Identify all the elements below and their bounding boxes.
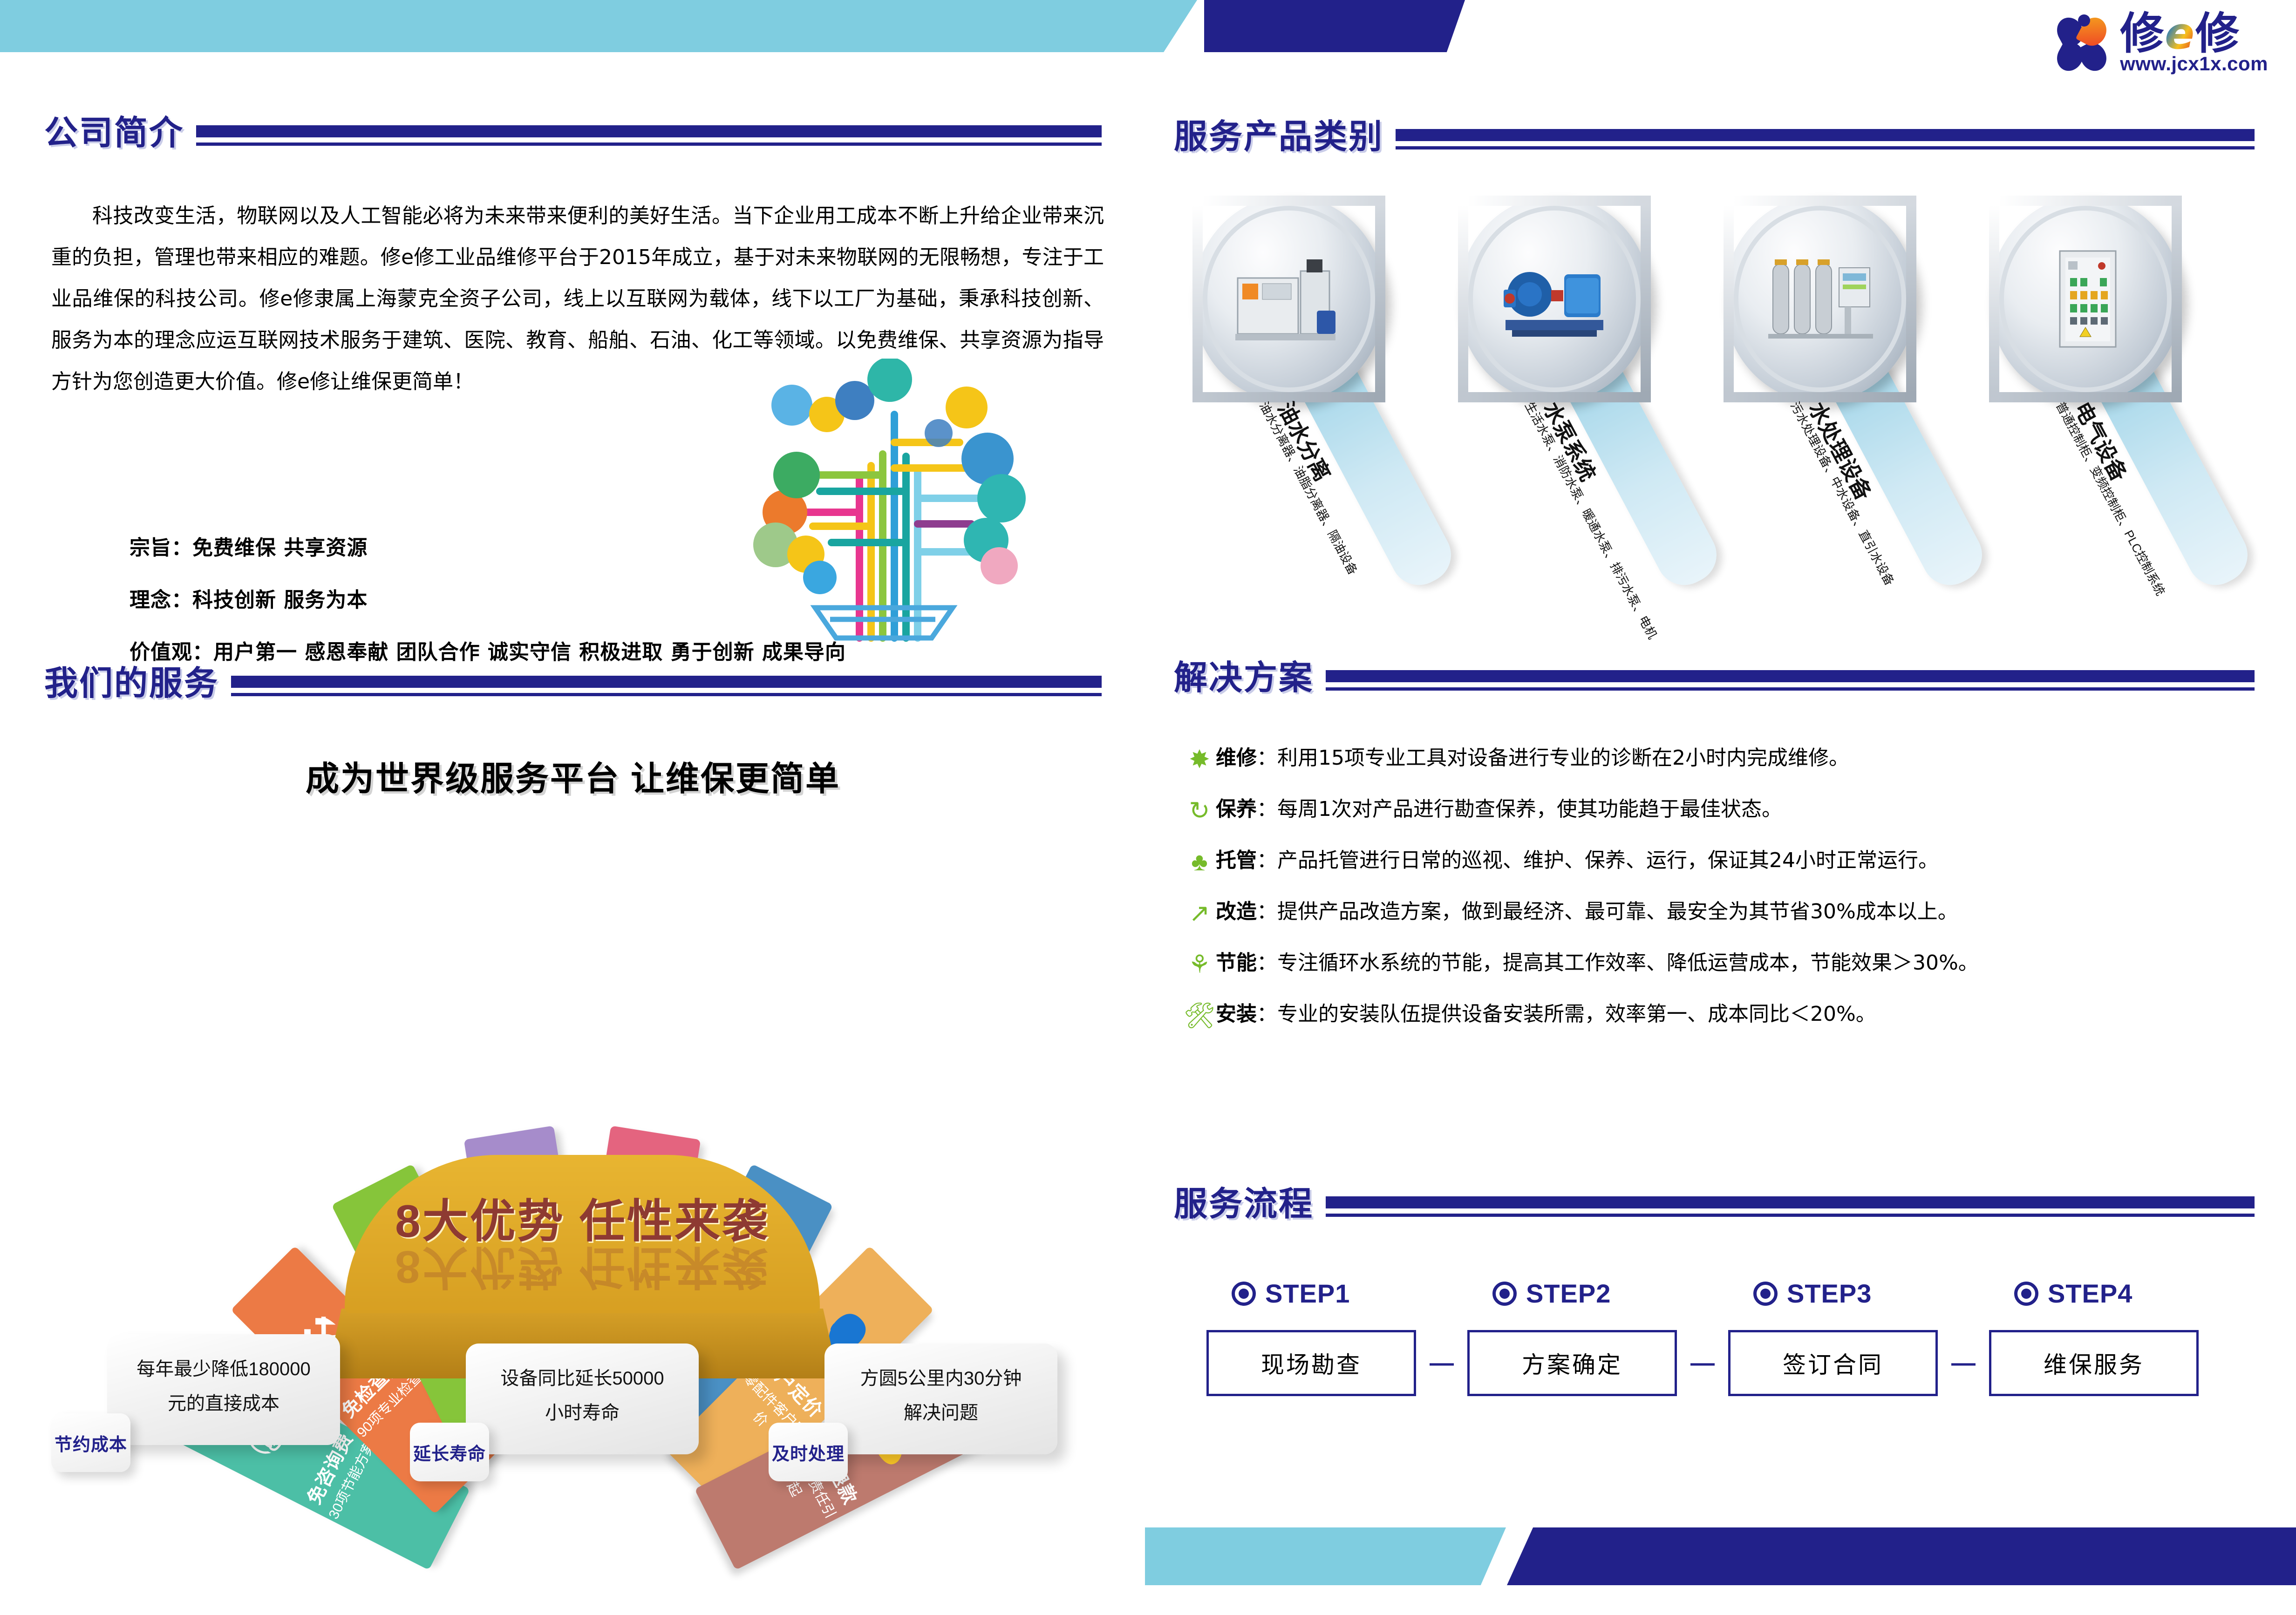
step-dot-icon	[1753, 1282, 1778, 1306]
process-step-marker: STEP2	[1492, 1278, 1702, 1309]
solution-item[interactable]: ↗ 改造：提供产品改造方案，做到最经济、最可靠、最安全为其节省30%成本以上。	[1183, 899, 2292, 926]
heading-rules	[1326, 1196, 2255, 1217]
logo-url: www.jcx1x.com	[2120, 53, 2268, 75]
step-dot-icon	[1232, 1282, 1256, 1306]
wrench-icon: 🛠	[1183, 1003, 1216, 1028]
logo-char-e: e	[2165, 13, 2195, 54]
solution-item[interactable]: ✸ 维修：利用15项专业工具对设备进行专业的诊断在2小时内完成维修。	[1183, 745, 2292, 772]
top-banner-blue	[1204, 0, 1465, 52]
solution-text: 改造：提供产品改造方案，做到最经济、最可靠、最安全为其节省30%成本以上。	[1216, 899, 1958, 925]
solution-title: 安装	[1216, 1002, 1257, 1026]
solution-text: 保养：每周1次对产品进行勘查保养，使其功能趋于最佳状态。	[1216, 796, 1782, 822]
building-icon: ♣	[1183, 849, 1216, 875]
technology-tree-illustration	[720, 359, 1046, 657]
solution-item[interactable]: ⚘ 节能：专注循环水系统的节能，提高其工作效率、降低运营成本，节能效果＞30%。	[1183, 950, 2292, 977]
solution-desc: 提供产品改造方案，做到最经济、最可靠、最安全为其节省30%成本以上。	[1277, 900, 1958, 923]
services-tagline: 成为世界级服务平台 让维保更简单	[44, 751, 1102, 800]
section-title-services: 我们的服务	[44, 667, 219, 700]
section-title-company: 公司简介	[44, 116, 184, 150]
solution-desc: 利用15项专业工具对设备进行专业的诊断在2小时内完成维修。	[1277, 746, 1849, 770]
step-dot-icon	[2014, 1282, 2038, 1306]
callout-tag: 延长寿命	[410, 1423, 489, 1481]
process-step-labels: STEP1 STEP2 STEP3 STEP4	[1232, 1278, 2278, 1309]
step-number: STEP2	[1526, 1278, 1611, 1309]
product-category-card[interactable]: 水泵系统 生活水泵、消防水泵、暖通水泵、排污水泵、电机	[1458, 196, 1630, 402]
water-pump-photo	[1496, 245, 1613, 353]
solutions-list: ✸ 维修：利用15项专业工具对设备进行专业的诊断在2小时内完成维修。 ↻ 保养：…	[1183, 745, 2292, 1052]
section-heading-process: 服务流程	[1174, 1187, 2255, 1221]
process-step-box[interactable]: 现场勘查	[1206, 1330, 1416, 1396]
oil-water-separator-photo	[1231, 245, 1347, 353]
section-heading-services: 我们的服务	[44, 667, 1102, 700]
section-heading-products: 服务产品类别	[1174, 120, 2255, 154]
step-number: STEP4	[2048, 1278, 2132, 1309]
solution-title: 维修	[1216, 746, 1257, 770]
process-separator: —	[1938, 1349, 1989, 1377]
leaf-sprout-icon: ⚘	[1183, 952, 1216, 977]
magnifier-lens	[1192, 196, 1385, 402]
process-separator: —	[1416, 1349, 1467, 1377]
process-step-box[interactable]: 方案确定	[1467, 1330, 1677, 1396]
section-title-process: 服务流程	[1174, 1187, 1314, 1221]
solution-title: 托管	[1216, 848, 1257, 872]
solution-text: 托管：产品托管进行日常的巡视、维护、保养、运行，保证其24小时正常运行。	[1216, 848, 1939, 874]
callout-tag: 节约成本	[51, 1413, 130, 1472]
solution-text: 节能：专注循环水系统的节能，提高其工作效率、降低运营成本，节能效果＞30%。	[1216, 950, 1979, 976]
electrical-cabinet-photo	[2027, 245, 2144, 353]
brand-logo: 修 e 修 www.jcx1x.com	[2054, 13, 2268, 75]
bottom-banner-cyan	[1145, 1527, 1506, 1585]
callout-line: 设备同比延长50000	[480, 1361, 685, 1396]
arrow-up-right-icon: ↗	[1183, 901, 1216, 926]
solution-text: 维修：利用15项专业工具对设备进行专业的诊断在2小时内完成维修。	[1216, 745, 1849, 771]
section-heading-company: 公司简介	[44, 116, 1102, 150]
magnifier-lens	[1458, 196, 1651, 402]
solution-text: 安装：专业的安装队伍提供设备安装所需，效率第一、成本同比＜20%。	[1216, 1001, 1876, 1027]
solution-desc: 专注循环水系统的节能，提高其工作效率、降低运营成本，节能效果＞30%。	[1277, 951, 1979, 975]
callout-line: 方圆5公里内30分钟	[838, 1361, 1043, 1396]
logo-char-left: 修	[2120, 13, 2165, 54]
section-title-products: 服务产品类别	[1174, 120, 1383, 154]
company-motto-philosophy: 理念：科技创新 服务为本	[129, 583, 368, 613]
heading-rules	[231, 676, 1102, 696]
benefit-callouts: 每年最少降低180000 元的直接成本 节约成本 设备同比延长50000 小时寿…	[107, 1334, 1099, 1502]
section-heading-solutions: 解决方案	[1174, 661, 2255, 695]
top-banner-cyan	[0, 0, 1197, 52]
callout-card[interactable]: 设备同比延长50000 小时寿命 延长寿命	[466, 1344, 699, 1454]
water-treatment-photo	[1762, 245, 1878, 353]
solution-item[interactable]: ↻ 保养：每周1次对产品进行勘查保养，使其功能趋于最佳状态。	[1183, 796, 2292, 823]
heading-rules	[196, 125, 1102, 146]
company-motto-purpose: 宗旨：免费维保 共享资源	[129, 531, 368, 561]
process-step-box[interactable]: 维保服务	[1989, 1330, 2199, 1396]
process-step-boxes: 现场勘查 — 方案确定 — 签订合同 — 维保服务	[1206, 1330, 2278, 1396]
solution-title: 节能	[1216, 951, 1257, 975]
callout-tag: 及时处理	[769, 1423, 848, 1481]
callout-line: 解决问题	[838, 1396, 1043, 1430]
process-step-marker: STEP3	[1753, 1278, 1963, 1309]
callout-card[interactable]: 方圆5公里内30分钟 解决问题 及时处理	[824, 1344, 1057, 1454]
fan-title: 8大优势 任性来袭	[395, 1184, 770, 1250]
callout-line: 每年最少降低180000	[121, 1352, 326, 1386]
heading-rules	[1326, 670, 2255, 691]
section-title-solutions: 解决方案	[1174, 661, 1314, 695]
step-number: STEP3	[1787, 1278, 1872, 1309]
logo-char-right: 修	[2195, 13, 2240, 54]
service-process: STEP1 STEP2 STEP3 STEP4 现场勘查 — 方案确定 — 签订…	[1206, 1278, 2278, 1396]
solution-desc: 每周1次对产品进行勘查保养，使其功能趋于最佳状态。	[1277, 797, 1782, 821]
gear-icon: ✸	[1183, 747, 1216, 772]
solution-item[interactable]: ♣ 托管：产品托管进行日常的巡视、维护、保养、运行，保证其24小时正常运行。	[1183, 848, 2292, 875]
product-category-card[interactable]: 油水分离 油水分离器、油脂分离器、隔油设备	[1192, 196, 1365, 402]
magnifier-lens	[1989, 196, 2182, 402]
step-number: STEP1	[1265, 1278, 1350, 1309]
process-step-marker: STEP4	[2014, 1278, 2224, 1309]
logo-mark-icon	[2054, 14, 2113, 74]
product-category-group: 油水分离 油水分离器、油脂分离器、隔油设备 水泵系统 生活水泵、消防水泵、暖通水…	[1179, 196, 2278, 652]
logo-wordmark: 修 e 修	[2120, 13, 2240, 54]
solution-title: 保养	[1216, 797, 1257, 821]
solution-desc: 产品托管进行日常的巡视、维护、保养、运行，保证其24小时正常运行。	[1277, 848, 1939, 872]
product-category-card[interactable]: 水处理设备 污水处理设备、中水设备、直引水设备	[1724, 196, 1896, 402]
bottom-banner-blue	[1507, 1527, 2296, 1585]
callout-card[interactable]: 每年最少降低180000 元的直接成本 节约成本	[107, 1334, 340, 1445]
process-step-marker: STEP1	[1232, 1278, 1441, 1309]
heading-rules	[1396, 129, 2255, 149]
process-separator: —	[1677, 1349, 1728, 1377]
solution-item[interactable]: 🛠 安装：专业的安装队伍提供设备安装所需，效率第一、成本同比＜20%。	[1183, 1001, 2292, 1028]
solution-title: 改造	[1216, 900, 1257, 923]
refresh-cycle-icon: ↻	[1183, 798, 1216, 823]
callout-line: 小时寿命	[480, 1396, 685, 1430]
magnifier-lens	[1724, 196, 1916, 402]
process-step-box[interactable]: 签订合同	[1728, 1330, 1938, 1396]
product-category-card[interactable]: 电气设备 普通控制柜、变频控制柜、PLC控制系统	[1989, 196, 2161, 402]
solution-desc: 专业的安装队伍提供设备安装所需，效率第一、成本同比＜20%。	[1277, 1002, 1876, 1026]
eight-advantages-fan: ✆ 免咨询费 30项节能方案 ⚒ 免检查费 90项专业检查 ☝ 免上门费 省50…	[140, 820, 1025, 1309]
callout-line: 元的直接成本	[121, 1386, 326, 1421]
step-dot-icon	[1492, 1282, 1517, 1306]
